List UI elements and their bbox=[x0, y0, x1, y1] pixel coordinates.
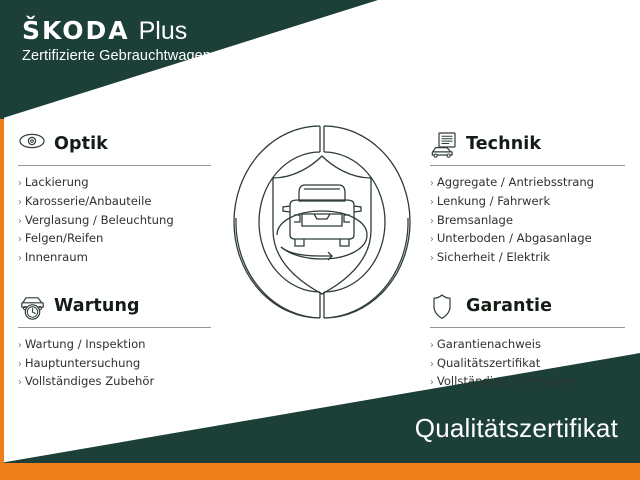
list-item-label: Verglasung / Beleuchtung bbox=[25, 213, 174, 227]
list-item-label: Aggregate / Antriebsstrang bbox=[437, 175, 594, 189]
section-technik-title: Technik bbox=[466, 136, 541, 154]
section-optik-title: Optik bbox=[54, 136, 108, 154]
chevron-right-icon: › bbox=[430, 359, 434, 370]
list-item: ›Hauptuntersuchung bbox=[18, 354, 211, 373]
list-item-label: Felgen/Reifen bbox=[25, 231, 104, 245]
chevron-right-icon: › bbox=[18, 359, 22, 370]
chevron-right-icon: › bbox=[430, 216, 434, 227]
list-item-label: Vollständiges Zubehör bbox=[25, 374, 154, 388]
car-wheel-right bbox=[340, 239, 349, 246]
section-wartung-header: Wartung bbox=[18, 292, 211, 322]
car-document-icon bbox=[430, 131, 460, 159]
section-garantie-list: ›Garantienachweis ›Qualitätszertifikat ›… bbox=[430, 335, 625, 391]
list-item-label: Vollständige Unterlagen bbox=[437, 374, 576, 388]
list-item: ›Felgen/Reifen bbox=[18, 229, 211, 248]
list-item: ›Wartung / Inspektion bbox=[18, 335, 211, 354]
eye-icon bbox=[18, 131, 48, 159]
list-item: ›Karosserie/Anbauteile bbox=[18, 192, 211, 211]
car-roof bbox=[299, 185, 345, 201]
section-garantie-divider bbox=[430, 327, 625, 328]
list-item-label: Qualitätszertifikat bbox=[437, 356, 540, 370]
list-item: ›Aggregate / Antriebsstrang bbox=[430, 173, 625, 192]
list-item: ›Vollständiges Zubehör bbox=[18, 372, 211, 391]
chevron-right-icon: › bbox=[18, 340, 22, 351]
section-wartung-divider bbox=[18, 327, 211, 328]
section-garantie: Garantie ›Garantienachweis ›Qualitätszer… bbox=[430, 292, 625, 391]
shield-outline bbox=[273, 156, 371, 294]
left-edge-green-overlay bbox=[0, 0, 4, 119]
section-garantie-header: Garantie bbox=[430, 292, 625, 322]
list-item-label: Innenraum bbox=[25, 250, 88, 264]
chevron-right-icon: › bbox=[18, 253, 22, 264]
list-item-label: Wartung / Inspektion bbox=[25, 337, 146, 351]
footer-title: Qualitätszertifikat bbox=[415, 415, 618, 441]
list-item-label: Unterboden / Abgasanlage bbox=[437, 231, 592, 245]
section-optik: Optik ›Lackierung ›Karosserie/Anbauteile… bbox=[18, 130, 211, 267]
section-wartung: Wartung ›Wartung / Inspektion ›Hauptunte… bbox=[18, 292, 211, 391]
section-optik-divider bbox=[18, 165, 211, 166]
car-grille-notch bbox=[314, 214, 330, 219]
brand-skoda-wordmark: ŠKODA bbox=[22, 18, 130, 43]
outer-ring-right-segment bbox=[324, 126, 410, 318]
list-item: ›Bremsanlage bbox=[430, 211, 625, 230]
car-mirror-left bbox=[283, 206, 290, 212]
list-item: ›Lenkung / Fahrwerk bbox=[430, 192, 625, 211]
shield-car-warranty-emblem bbox=[232, 122, 412, 322]
car-clock-icon bbox=[18, 293, 48, 321]
section-technik-divider bbox=[430, 165, 625, 166]
list-item: ›Innenraum bbox=[18, 248, 211, 267]
section-technik-header: Technik bbox=[430, 130, 625, 160]
footer-orange-stripe bbox=[0, 463, 640, 480]
brand-subtitle: Zertifizierte Gebrauchtwagen bbox=[22, 49, 211, 65]
outer-ring-left-segment bbox=[234, 126, 320, 318]
chevron-right-icon: › bbox=[430, 197, 434, 208]
list-item-label: Lenkung / Fahrwerk bbox=[437, 194, 550, 208]
brand-plus-label: Plus bbox=[139, 19, 188, 44]
chevron-right-icon: › bbox=[18, 234, 22, 245]
section-wartung-list: ›Wartung / Inspektion ›Hauptuntersuchung… bbox=[18, 335, 211, 391]
list-item-label: Garantienachweis bbox=[437, 337, 541, 351]
list-item-label: Bremsanlage bbox=[437, 213, 513, 227]
chevron-right-icon: › bbox=[18, 377, 22, 388]
list-item-label: Karosserie/Anbauteile bbox=[25, 194, 152, 208]
list-item: ›Lackierung bbox=[18, 173, 211, 192]
list-item: ›Sicherheit / Elektrik bbox=[430, 248, 625, 267]
chevron-right-icon: › bbox=[430, 178, 434, 189]
list-item-label: Hauptuntersuchung bbox=[25, 356, 140, 370]
certificate-page: ŠKODA Plus Zertifizierte Gebrauchtwagen … bbox=[0, 0, 640, 480]
section-garantie-title: Garantie bbox=[466, 298, 552, 316]
list-item: ›Verglasung / Beleuchtung bbox=[18, 211, 211, 230]
chevron-right-icon: › bbox=[18, 178, 22, 189]
shield-icon bbox=[430, 293, 460, 321]
section-technik: Technik ›Aggregate / Antriebsstrang ›Len… bbox=[430, 130, 625, 267]
chevron-right-icon: › bbox=[430, 340, 434, 351]
brand-row: ŠKODA Plus bbox=[22, 18, 211, 44]
list-item: ›Vollständige Unterlagen bbox=[430, 372, 625, 391]
car-grille bbox=[302, 214, 342, 226]
chevron-right-icon: › bbox=[430, 253, 434, 264]
chevron-right-icon: › bbox=[18, 197, 22, 208]
left-column: Optik ›Lackierung ›Karosserie/Anbauteile… bbox=[18, 130, 211, 391]
list-item: ›Unterboden / Abgasanlage bbox=[430, 229, 625, 248]
section-wartung-title: Wartung bbox=[54, 298, 140, 316]
chevron-right-icon: › bbox=[18, 216, 22, 227]
section-optik-list: ›Lackierung ›Karosserie/Anbauteile ›Verg… bbox=[18, 173, 211, 267]
list-item: ›Qualitätszertifikat bbox=[430, 354, 625, 373]
list-item-label: Lackierung bbox=[25, 175, 89, 189]
chevron-right-icon: › bbox=[430, 377, 434, 388]
right-column: Technik ›Aggregate / Antriebsstrang ›Len… bbox=[430, 130, 625, 391]
list-item: ›Garantienachweis bbox=[430, 335, 625, 354]
car-wheel-left bbox=[295, 239, 304, 246]
brand-block: ŠKODA Plus Zertifizierte Gebrauchtwagen bbox=[22, 18, 211, 65]
chevron-right-icon: › bbox=[430, 234, 434, 245]
list-item-label: Sicherheit / Elektrik bbox=[437, 250, 550, 264]
section-technik-list: ›Aggregate / Antriebsstrang ›Lenkung / F… bbox=[430, 173, 625, 267]
section-optik-header: Optik bbox=[18, 130, 211, 160]
car-mirror-right bbox=[354, 206, 361, 212]
